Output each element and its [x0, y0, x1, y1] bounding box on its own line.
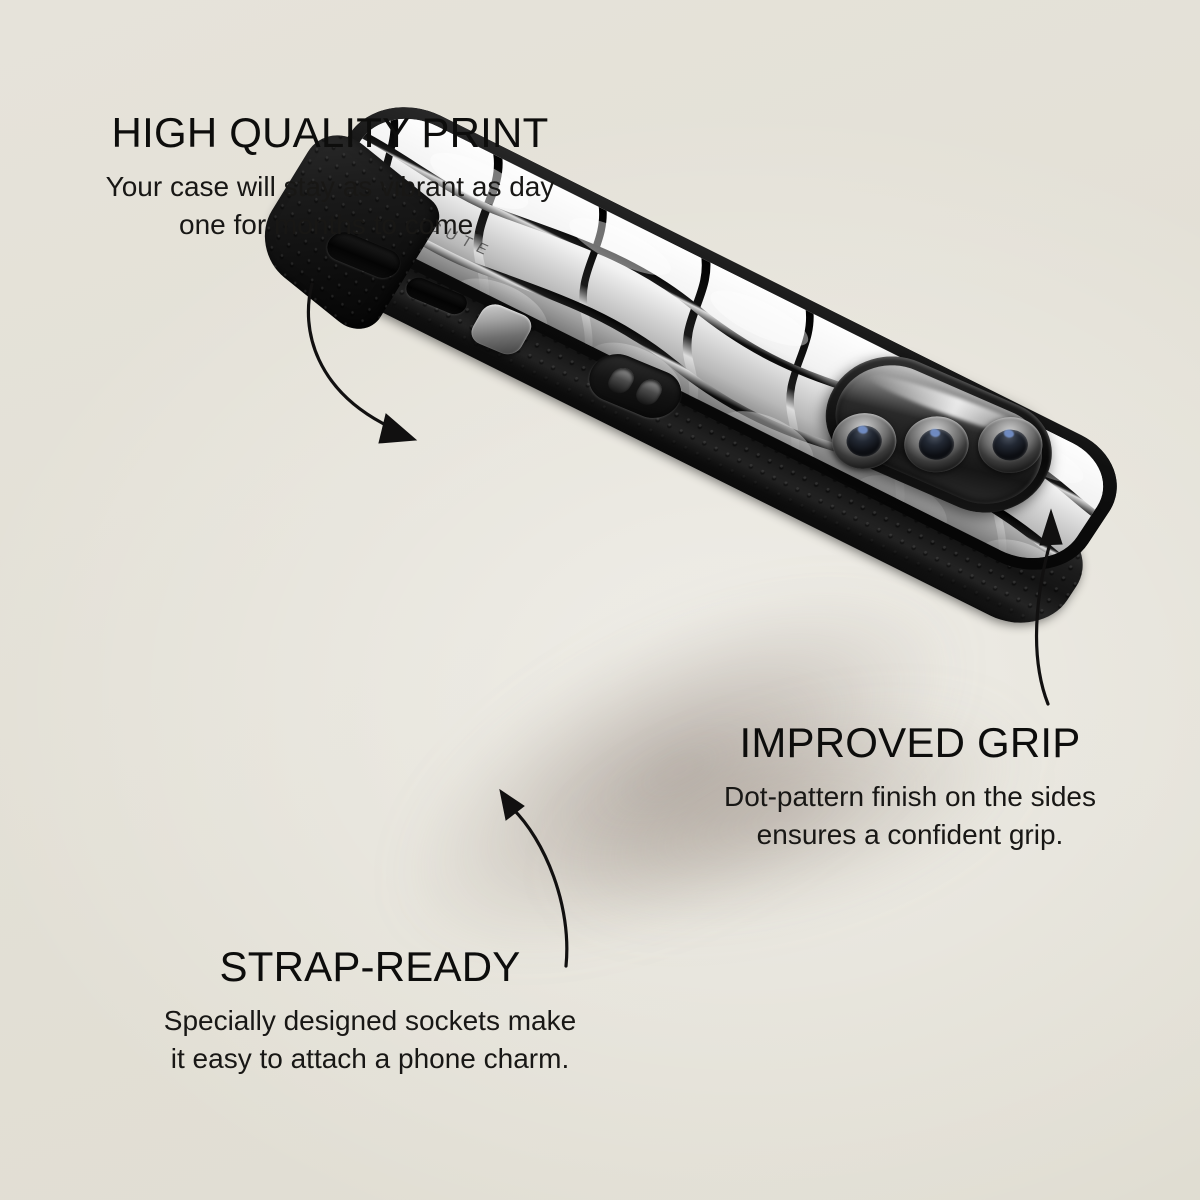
- feature-body: Specially designed sockets make it easy …: [100, 1002, 640, 1078]
- feature-heading: STRAP-READY: [100, 946, 640, 988]
- feature-body-line: it easy to attach a phone charm.: [171, 1043, 569, 1074]
- feature-heading: HIGH QUALITY PRINT: [40, 112, 620, 154]
- feature-body: Your case will stay as vibrant as day on…: [40, 168, 620, 244]
- infographic-canvas: CUTE: [0, 0, 1200, 1200]
- strap-socket-hole: [604, 365, 638, 397]
- feature-improved-grip: IMPROVED GRIP Dot-pattern finish on the …: [660, 722, 1160, 854]
- feature-high-quality-print: HIGH QUALITY PRINT Your case will stay a…: [40, 112, 620, 244]
- feature-body-line: Your case will stay as vibrant as day: [106, 171, 555, 202]
- feature-body-line: Specially designed sockets make: [164, 1005, 576, 1036]
- feature-body-line: Dot-pattern finish on the sides: [724, 781, 1096, 812]
- feature-body-line: one for months to come.: [179, 209, 481, 240]
- strap-socket-hole: [632, 376, 666, 408]
- feature-heading: IMPROVED GRIP: [660, 722, 1160, 764]
- feature-body-line: ensures a confident grip.: [757, 819, 1064, 850]
- feature-strap-ready: STRAP-READY Specially designed sockets m…: [100, 946, 640, 1078]
- feature-body: Dot-pattern finish on the sides ensures …: [660, 778, 1160, 854]
